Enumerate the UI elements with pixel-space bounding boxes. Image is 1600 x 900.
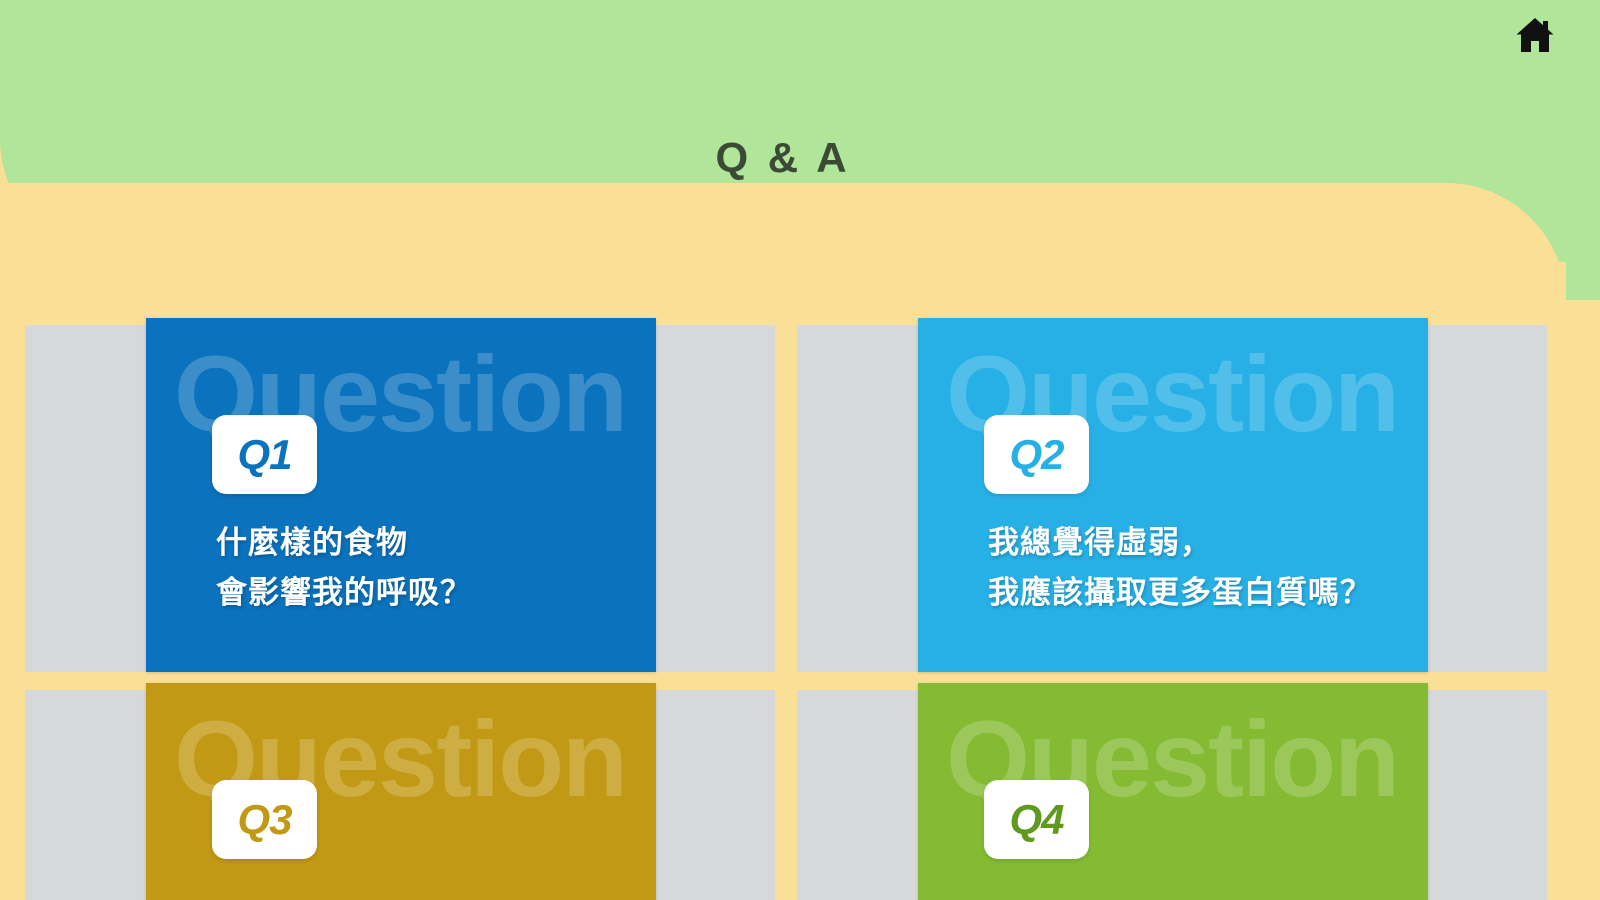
question-badge: Q4 — [984, 780, 1089, 859]
qa-card-q4[interactable]: Question Q4 — [918, 683, 1428, 900]
qa-card-q3[interactable]: Question Q3 — [146, 683, 656, 900]
question-badge: Q3 — [212, 780, 317, 859]
qa-card-q2[interactable]: Question Q2 我總覺得虛弱， 我應該攝取更多蛋白質嗎？ — [918, 318, 1428, 672]
home-icon[interactable] — [1512, 12, 1558, 58]
qa-cell: Question Q4 — [797, 690, 1547, 900]
qa-page: Q & A Question Q1 什麼樣的食物 會影響我的呼吸？ Questi… — [0, 0, 1600, 900]
qa-cell: Question Q1 什麼樣的食物 會影響我的呼吸？ — [25, 325, 775, 672]
qa-card-q1[interactable]: Question Q1 什麼樣的食物 會影響我的呼吸？ — [146, 318, 656, 672]
question-text: 我總覺得虛弱， 我應該攝取更多蛋白質嗎？ — [988, 518, 1416, 618]
qa-cell: Question Q2 我總覺得虛弱， 我應該攝取更多蛋白質嗎？ — [797, 325, 1547, 672]
question-badge: Q2 — [984, 415, 1089, 494]
question-badge: Q1 — [212, 415, 317, 494]
qa-cell: Question Q3 — [25, 690, 775, 900]
question-text: 什麼樣的食物 會影響我的呼吸？ — [216, 518, 644, 618]
qa-card-grid: Question Q1 什麼樣的食物 會影響我的呼吸？ Question Q2 … — [25, 325, 1572, 900]
page-title: Q & A — [0, 134, 1566, 182]
